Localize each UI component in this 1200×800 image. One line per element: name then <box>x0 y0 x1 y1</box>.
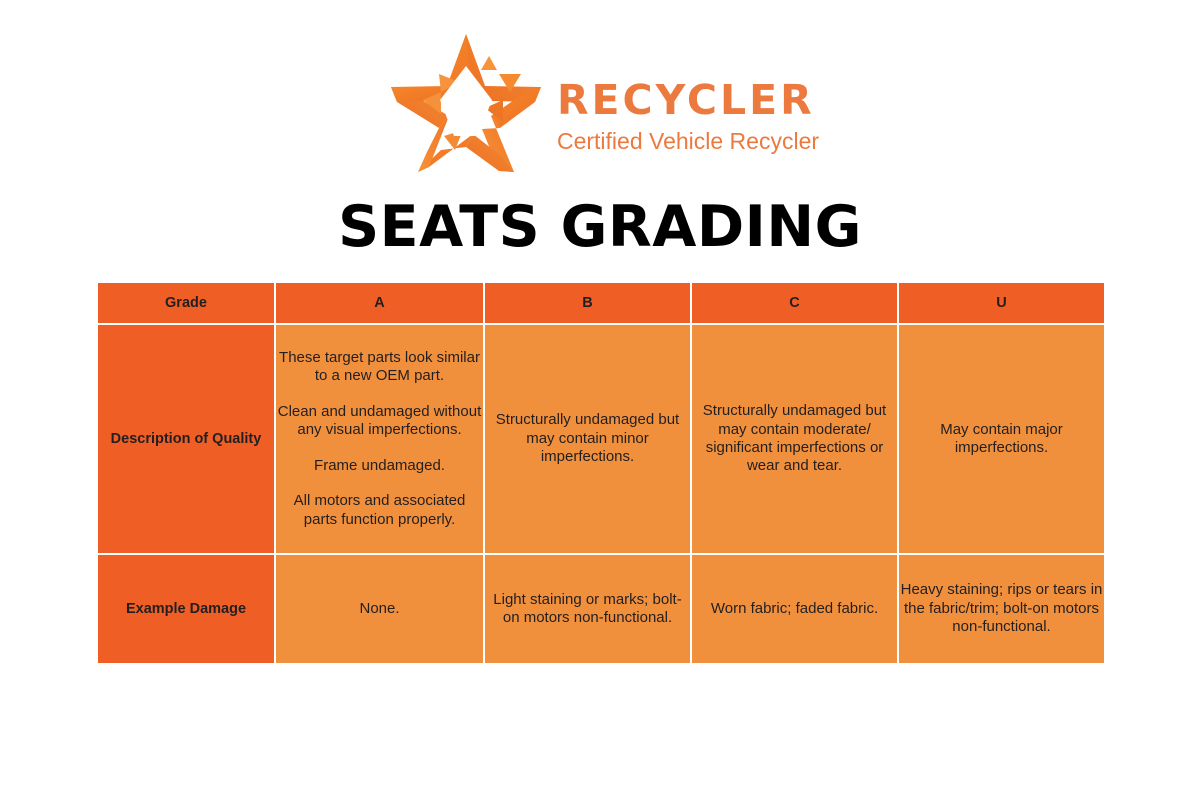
brand-logo: RECYCLER Certified Vehicle Recycler <box>0 30 1200 176</box>
cell-paragraph: These target parts look similar to a new… <box>276 349 483 386</box>
column-header-c: C <box>692 283 897 323</box>
column-header-a: A <box>276 283 483 323</box>
cell-paragraph: Structurally undamaged but may contain m… <box>692 402 897 476</box>
table-row-example-damage: Example Damage None. Light staining or m… <box>98 555 1104 663</box>
cell-description-a: These target parts look similar to a new… <box>276 325 483 553</box>
logo-wordmark: RECYCLER <box>557 79 819 122</box>
cell-example-c: Worn fabric; faded fabric. <box>692 555 897 663</box>
seats-grading-page: RECYCLER Certified Vehicle Recycler SEAT… <box>0 0 1200 800</box>
page-title: SEATS GRADING <box>0 196 1200 259</box>
cell-paragraph: All motors and associated parts function… <box>276 492 483 529</box>
column-header-u: U <box>899 283 1104 323</box>
cell-description-b: Structurally undamaged but may contain m… <box>485 325 690 553</box>
cell-paragraph: Clean and undamaged without any visual i… <box>276 403 483 440</box>
column-header-b: B <box>485 283 690 323</box>
cell-paragraph: Structurally undamaged but may contain m… <box>485 411 690 466</box>
cell-example-b: Light staining or marks; bolt-on motors … <box>485 555 690 663</box>
seats-grading-table: Grade A B C U Description of Quality The… <box>96 281 1106 665</box>
cell-example-a: None. <box>276 555 483 663</box>
cell-description-c: Structurally undamaged but may contain m… <box>692 325 897 553</box>
cell-paragraph: Worn fabric; faded fabric. <box>692 600 897 618</box>
cell-description-u: May contain major imperfections. <box>899 325 1104 553</box>
cell-paragraph: Heavy staining; rips or tears in the fab… <box>899 581 1104 636</box>
row-label-example-damage: Example Damage <box>98 555 274 663</box>
recycling-star-icon <box>381 30 551 176</box>
logo-tagline: Certified Vehicle Recycler <box>557 128 819 156</box>
table-row-description-of-quality: Description of Quality These target part… <box>98 325 1104 553</box>
logo-text-block: RECYCLER Certified Vehicle Recycler <box>557 79 819 156</box>
cell-example-u: Heavy staining; rips or tears in the fab… <box>899 555 1104 663</box>
cell-paragraph: Frame undamaged. <box>276 457 483 475</box>
cell-paragraph: Light staining or marks; bolt-on motors … <box>485 591 690 628</box>
cell-paragraph: May contain major imperfections. <box>899 421 1104 458</box>
row-label-description-of-quality: Description of Quality <box>98 325 274 553</box>
column-header-grade: Grade <box>98 283 274 323</box>
logo-inner: RECYCLER Certified Vehicle Recycler <box>381 30 819 176</box>
table-header-row: Grade A B C U <box>98 283 1104 323</box>
cell-paragraph: None. <box>276 600 483 618</box>
